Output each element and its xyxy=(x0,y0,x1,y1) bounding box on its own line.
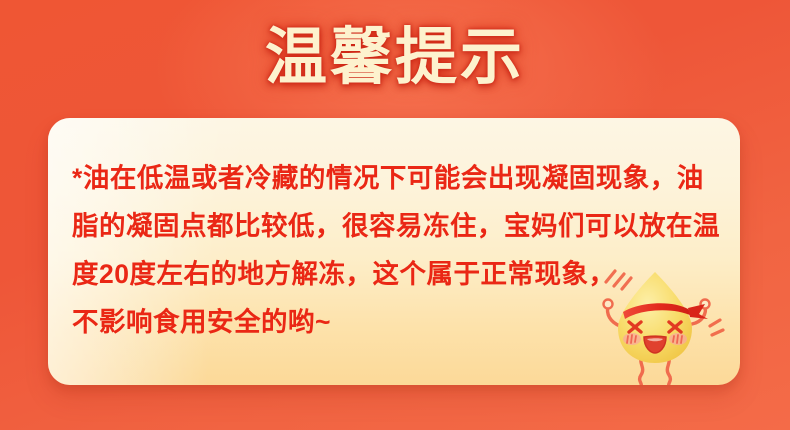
promo-notice-poster: 温馨提示 *油在低温或者冷藏的情况下可能会出现凝固现象，油 脂的凝固点都比较低，… xyxy=(0,0,790,430)
page-title: 温馨提示 xyxy=(0,22,790,94)
notice-line-3: 度20度左右的地方解冻，这个属于正常现象， xyxy=(72,250,722,298)
notice-text-block: *油在低温或者冷藏的情况下可能会出现凝固现象，油 脂的凝固点都比较低，很容易冻住… xyxy=(72,154,722,346)
notice-line-4: 不影响食用安全的哟~ xyxy=(72,298,722,346)
notice-card: *油在低温或者冷藏的情况下可能会出现凝固现象，油 脂的凝固点都比较低，很容易冻住… xyxy=(48,118,740,385)
notice-line-2: 脂的凝固点都比较低，很容易冻住，宝妈们可以放在温 xyxy=(72,202,722,250)
mascot-legs xyxy=(640,356,671,385)
notice-line-1: *油在低温或者冷藏的情况下可能会出现凝固现象，油 xyxy=(72,154,722,202)
